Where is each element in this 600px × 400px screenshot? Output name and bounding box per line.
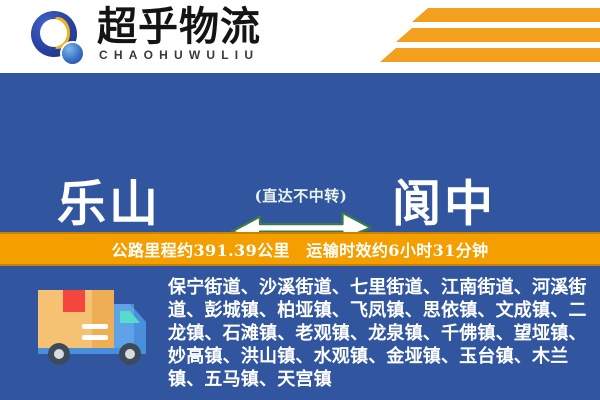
destination-city-label: 阆中 xyxy=(392,180,496,229)
header-bar: 超乎物流 CHAOHUWULIU xyxy=(0,0,600,73)
route-banner: 乐山 (直达不中转) 【往返运输】 阆中 xyxy=(0,73,600,232)
orange-speed-stripes-icon xyxy=(350,8,600,68)
logo-crescent-cut-shape xyxy=(40,19,67,47)
logistics-route-poster: 超乎物流 CHAOHUWULIU 乐山 (直达不中转) 【往返运输】 阆中 公路… xyxy=(0,0,600,400)
chaohu-q-logo-icon xyxy=(31,11,87,66)
delivery-truck-icon xyxy=(26,282,158,366)
logo-dot-shape xyxy=(62,43,83,64)
brand-name-en: CHAOHUWULIU xyxy=(99,48,259,62)
direct-service-note: (直达不中转) xyxy=(225,185,377,206)
brand-name-cn: 超乎物流 xyxy=(97,6,261,48)
distance-duration-text: 公路里程约391.39公里 运输时效约6小时31分钟 xyxy=(111,237,488,261)
distance-duration-bar: 公路里程约391.39公里 运输时效约6小时31分钟 xyxy=(0,232,600,266)
coverage-town-list: 保宁街道、沙溪街道、七里街道、江南街道、河溪街道、彭城镇、柏垭镇、飞凤镇、思依镇… xyxy=(168,276,592,391)
origin-city-label: 乐山 xyxy=(57,180,161,229)
